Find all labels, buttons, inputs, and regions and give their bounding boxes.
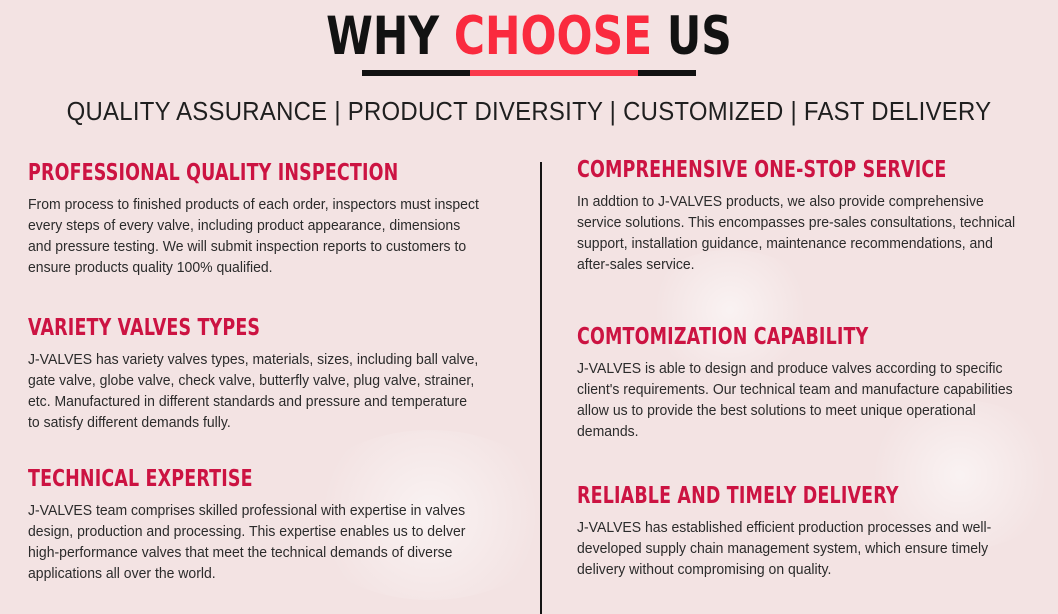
rule-segment-red — [470, 70, 638, 76]
feature-body-comtomization-capability: J-VALVES is able to design and produce v… — [577, 359, 1028, 443]
right-column: COMPREHENSIVE ONE-STOP SERVICE In addtio… — [577, 152, 1058, 595]
content-columns: PROFESSIONAL QUALITY INSPECTION From pro… — [0, 152, 1058, 612]
page-title: WHY CHOOSE US — [106, 9, 952, 65]
feature-heading-professional-quality-inspection: PROFESSIONAL QUALITY INSPECTION — [28, 160, 408, 186]
page-subtitle: QUALITY ASSURANCE | PRODUCT DIVERSITY | … — [42, 96, 1015, 126]
feature-heading-reliable-and-timely-delivery: RELIABLE AND TIMELY DELIVERY — [577, 483, 957, 509]
column-divider — [540, 162, 542, 614]
title-underline-rule — [362, 70, 696, 76]
rule-segment-black-right — [638, 70, 696, 76]
feature-body-technical-expertise: J-VALVES team comprises skilled professi… — [28, 501, 479, 585]
feature-block: PROFESSIONAL QUALITY INSPECTION From pro… — [28, 160, 528, 279]
feature-block: VARIETY VALVES TYPES J-VALVES has variet… — [28, 315, 528, 434]
feature-block: TECHNICAL EXPERTISE J-VALVES team compri… — [28, 466, 528, 585]
title-word-us: US — [667, 6, 732, 67]
header: WHY CHOOSE US QUALITY ASSURANCE | PRODUC… — [0, 0, 1058, 126]
feature-heading-comprehensive-one-stop-service: COMPREHENSIVE ONE-STOP SERVICE — [577, 157, 957, 183]
feature-body-reliable-and-timely-delivery: J-VALVES has established efficient produ… — [577, 518, 1028, 581]
feature-heading-technical-expertise: TECHNICAL EXPERTISE — [28, 466, 408, 492]
left-column: PROFESSIONAL QUALITY INSPECTION From pro… — [28, 152, 528, 599]
feature-heading-variety-valves-types: VARIETY VALVES TYPES — [28, 315, 408, 341]
feature-body-comprehensive-one-stop-service: In addtion to J-VALVES products, we also… — [577, 192, 1028, 276]
title-word-choose: CHOOSE — [454, 6, 667, 67]
feature-body-professional-quality-inspection: From process to finished products of eac… — [28, 195, 479, 279]
feature-block: RELIABLE AND TIMELY DELIVERY J-VALVES ha… — [577, 483, 1058, 581]
title-word-why: WHY — [326, 6, 454, 67]
rule-segment-black-left — [362, 70, 470, 76]
feature-heading-comtomization-capability: COMTOMIZATION CAPABILITY — [577, 324, 957, 350]
feature-block: COMPREHENSIVE ONE-STOP SERVICE In addtio… — [577, 157, 1058, 276]
feature-body-variety-valves-types: J-VALVES has variety valves types, mater… — [28, 350, 479, 434]
feature-block: COMTOMIZATION CAPABILITY J-VALVES is abl… — [577, 324, 1058, 443]
